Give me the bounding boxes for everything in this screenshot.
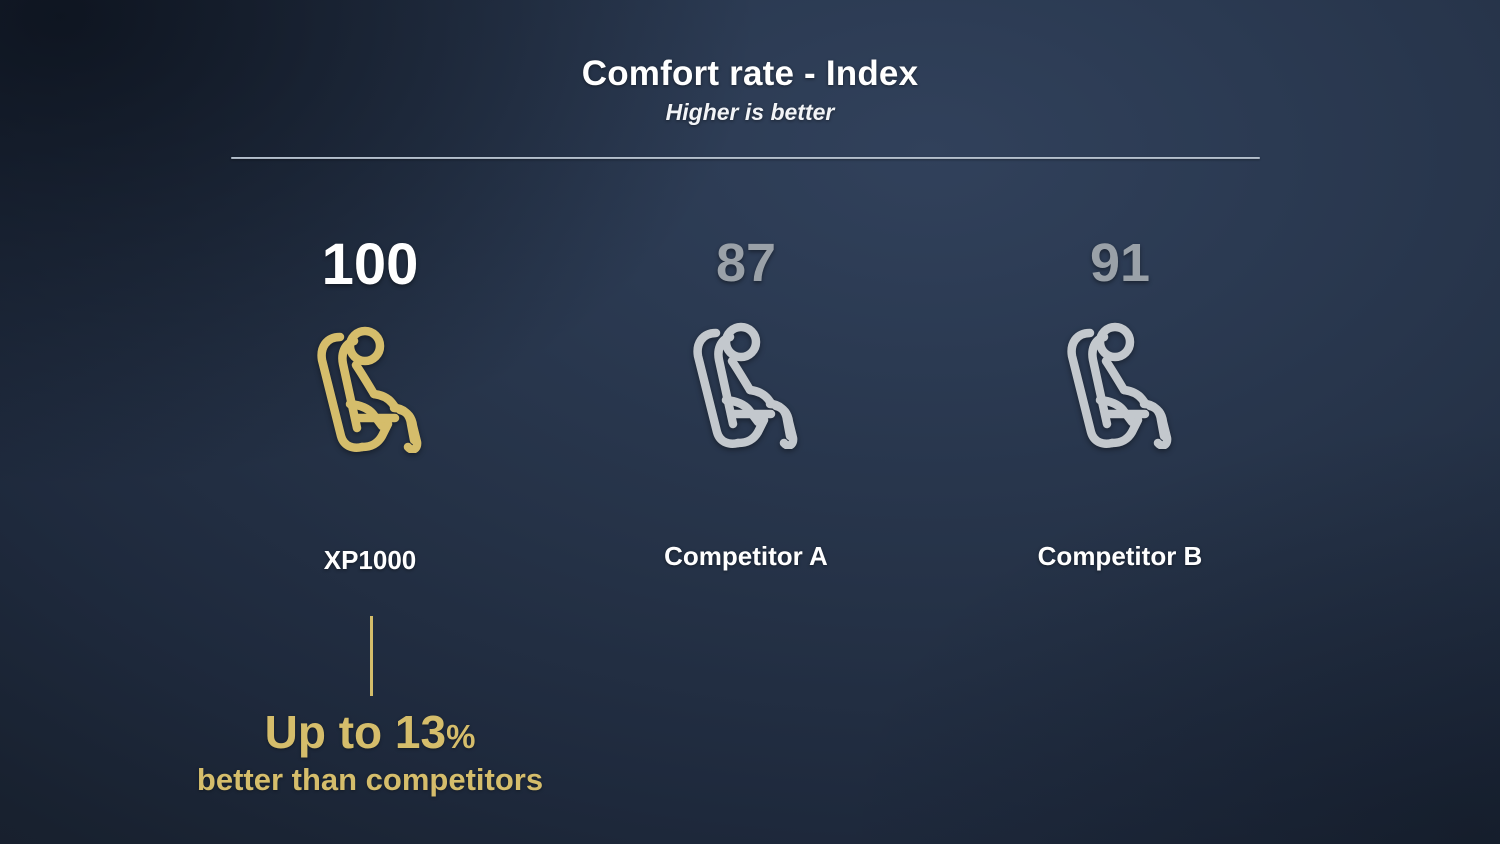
label-xp1000: XP1000: [324, 545, 417, 576]
chart-title: Comfort rate - Index: [0, 54, 1500, 94]
label-competitor-a: Competitor A: [664, 541, 828, 572]
comparison-column-competitor-a: 87 Competitor A: [616, 236, 876, 572]
callout-block: Up to 13% better than competitors: [0, 708, 740, 798]
label-competitor-b: Competitor B: [1038, 541, 1203, 572]
reclining-seat-icon: [1060, 304, 1180, 449]
callout-headline-text: Up to 13: [265, 706, 446, 758]
title-divider-rule: [231, 157, 1260, 159]
comparison-column-xp1000: 100: [240, 236, 500, 576]
value-xp1000: 100: [322, 236, 419, 294]
comparison-column-competitor-b: 91 Competitor B: [990, 236, 1250, 572]
callout-subtext: better than competitors: [0, 762, 740, 798]
comparison-columns: 100: [0, 236, 1500, 616]
comfort-rate-slide: Comfort rate - Index Higher is better 10…: [0, 0, 1500, 844]
reclining-seat-icon: [310, 308, 430, 453]
callout-headline-unit: %: [446, 718, 475, 755]
value-competitor-a: 87: [716, 236, 776, 290]
chart-subtitle: Higher is better: [0, 99, 1500, 126]
reclining-seat-icon: [686, 304, 806, 449]
slide-header: Comfort rate - Index Higher is better: [0, 0, 1500, 126]
callout-connector-line: [370, 616, 373, 696]
value-competitor-b: 91: [1090, 236, 1150, 290]
callout-headline: Up to 13%: [0, 708, 740, 756]
